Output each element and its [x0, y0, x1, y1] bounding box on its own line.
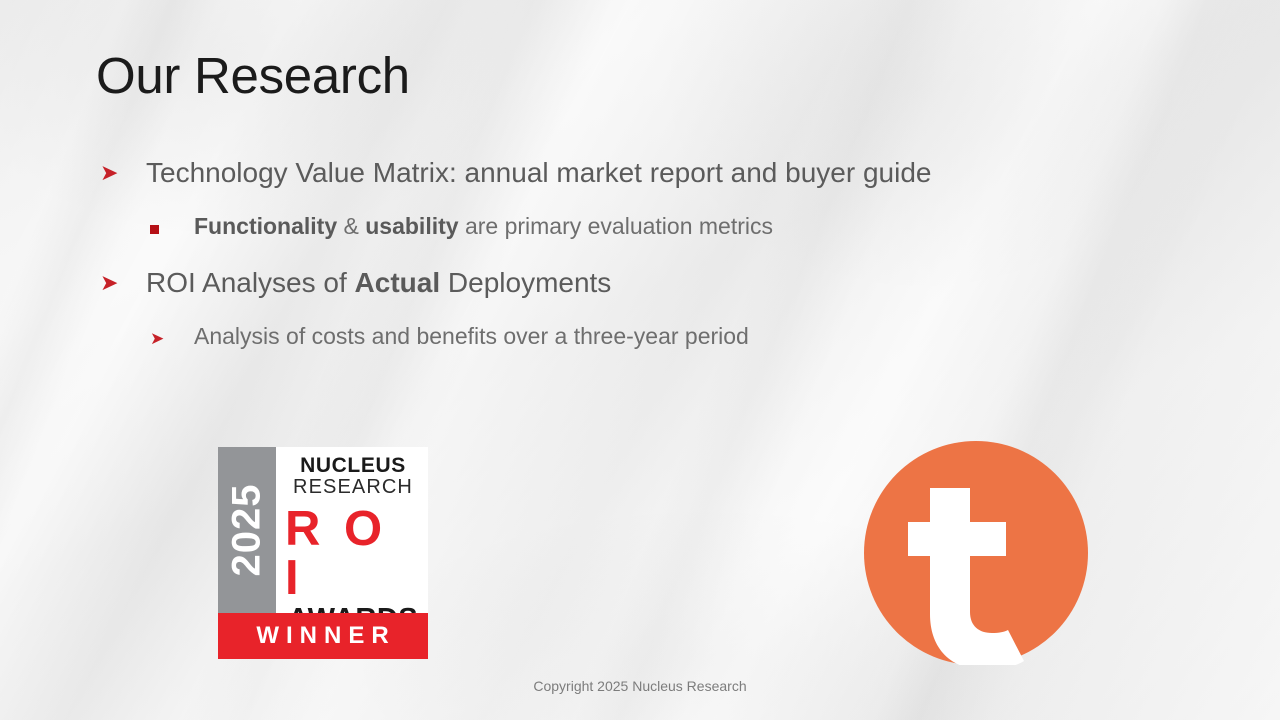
- nucleus-roi-award-badge: 2025 NUCLEUS RESEARCH R O I AWARDS WINNE…: [218, 447, 428, 659]
- badge-upper-section: 2025 NUCLEUS RESEARCH R O I AWARDS: [218, 447, 428, 613]
- brand-logo-t-icon: [864, 441, 1088, 665]
- arrow-bullet-icon: ➤: [150, 330, 194, 347]
- badge-org-line2: RESEARCH: [293, 477, 413, 498]
- slide-canvas: Our Research ➤ Technology Value Matrix: …: [0, 0, 1280, 720]
- bullet-marker: ➤: [100, 154, 146, 184]
- bullet-list: ➤ Technology Value Matrix: annual market…: [100, 154, 1190, 375]
- badge-year-label: 2025: [225, 484, 270, 577]
- bullet-segment: Deployments: [440, 267, 611, 298]
- list-item: ➤ ROI Analyses of Actual Deployments: [100, 264, 1190, 303]
- arrow-bullet-icon: ➤: [100, 272, 146, 294]
- badge-main-section: NUCLEUS RESEARCH R O I AWARDS: [276, 447, 428, 613]
- bullet-marker: ➤: [150, 321, 194, 347]
- bullet-segment: Analysis of costs and benefits over a th…: [194, 323, 749, 349]
- bullet-marker: ➤: [100, 264, 146, 294]
- list-item-text: ROI Analyses of Actual Deployments: [146, 264, 611, 303]
- list-item-text: Technology Value Matrix: annual market r…: [146, 154, 932, 193]
- bullet-segment: are primary evaluation metrics: [459, 213, 773, 239]
- square-bullet-icon: [150, 225, 159, 234]
- bullet-marker: [150, 211, 194, 234]
- bullet-segment: usability: [365, 213, 458, 239]
- badge-year-bar: 2025: [218, 447, 276, 613]
- bullet-segment: ROI Analyses of: [146, 267, 355, 298]
- list-item: ➤ Analysis of costs and benefits over a …: [100, 321, 1190, 353]
- badge-status-banner: WINNER: [218, 613, 428, 659]
- page-title: Our Research: [96, 48, 410, 104]
- list-item-text: Analysis of costs and benefits over a th…: [194, 321, 749, 353]
- arrow-bullet-icon: ➤: [100, 162, 146, 184]
- bullet-segment: Technology Value Matrix: annual market r…: [146, 157, 932, 188]
- footer-copyright: Copyright 2025 Nucleus Research: [0, 678, 1280, 694]
- badge-org-line1: NUCLEUS: [300, 455, 406, 476]
- badge-award-name: R O I: [285, 505, 421, 603]
- list-item: ➤ Technology Value Matrix: annual market…: [100, 154, 1190, 193]
- list-item: Functionality & usability are primary ev…: [100, 211, 1190, 243]
- bullet-segment: &: [337, 213, 365, 239]
- bullet-segment: Actual: [355, 267, 441, 298]
- list-item-text: Functionality & usability are primary ev…: [194, 211, 773, 243]
- bullet-segment: Functionality: [194, 213, 337, 239]
